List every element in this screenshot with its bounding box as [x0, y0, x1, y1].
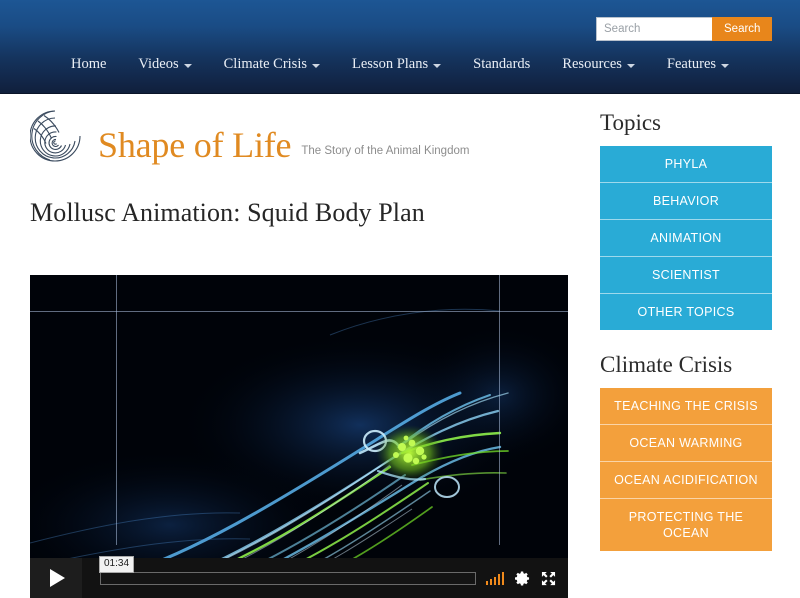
- sidebar: Topics PHYLABEHAVIORANIMATIONSCIENTISTOT…: [600, 110, 772, 573]
- chevron-down-icon: [312, 64, 320, 68]
- nav-item-label: Climate Crisis: [224, 56, 307, 73]
- page-title: Mollusc Animation: Squid Body Plan: [30, 198, 425, 228]
- time-tooltip: 01:34: [99, 556, 134, 573]
- sidebar-item-protecting-the-ocean[interactable]: PROTECTING THE OCEAN: [600, 499, 772, 551]
- climate-button-group: TEACHING THE CRISISOCEAN WARMINGOCEAN AC…: [600, 388, 772, 551]
- topics-heading: Topics: [600, 110, 772, 136]
- site-header: Search HomeVideosClimate CrisisLesson Pl…: [0, 0, 800, 94]
- sidebar-item-ocean-warming[interactable]: OCEAN WARMING: [600, 425, 772, 462]
- video-player[interactable]: 01:34: [30, 275, 568, 598]
- topics-button-group: PHYLABEHAVIORANIMATIONSCIENTISTOTHER TOP…: [600, 146, 772, 330]
- volume-bars-icon[interactable]: [486, 572, 505, 585]
- guide-line-vertical-right: [499, 275, 500, 545]
- brand-tagline: The Story of the Animal Kingdom: [301, 145, 469, 162]
- sidebar-item-phyla[interactable]: PHYLA: [600, 146, 772, 183]
- control-icons: [486, 571, 569, 586]
- page-body: Shape of Life The Story of the Animal Ki…: [0, 94, 800, 598]
- progress-bar[interactable]: [100, 572, 476, 585]
- main-navigation: HomeVideosClimate CrisisLesson PlansStan…: [0, 56, 800, 73]
- guide-line-vertical-left: [116, 275, 117, 545]
- nav-item-label: Standards: [473, 56, 530, 73]
- gear-icon[interactable]: [515, 571, 530, 586]
- brand-wordmark: Shape of Life: [98, 128, 291, 162]
- sidebar-item-behavior[interactable]: BEHAVIOR: [600, 183, 772, 220]
- search-area: Search: [596, 17, 772, 41]
- video-poster[interactable]: [30, 275, 568, 598]
- nav-item-standards[interactable]: Standards: [457, 56, 546, 73]
- nav-item-label: Videos: [138, 56, 178, 73]
- nav-item-label: Lesson Plans: [352, 56, 428, 73]
- nav-item-label: Home: [71, 56, 106, 73]
- guide-line-horizontal: [30, 311, 568, 312]
- progress-area[interactable]: 01:34: [82, 558, 486, 598]
- nav-item-features[interactable]: Features: [651, 56, 745, 73]
- sidebar-item-teaching-the-crisis[interactable]: TEACHING THE CRISIS: [600, 388, 772, 425]
- sidebar-item-other-topics[interactable]: OTHER TOPICS: [600, 294, 772, 330]
- chevron-down-icon: [433, 64, 441, 68]
- search-input[interactable]: [596, 17, 712, 41]
- play-icon: [50, 569, 65, 587]
- fullscreen-icon[interactable]: [541, 571, 556, 586]
- climate-heading: Climate Crisis: [600, 352, 772, 378]
- chevron-down-icon: [721, 64, 729, 68]
- nav-item-resources[interactable]: Resources: [546, 56, 651, 73]
- chevron-down-icon: [627, 64, 635, 68]
- play-button[interactable]: [30, 558, 82, 598]
- nav-item-climate-crisis[interactable]: Climate Crisis: [208, 56, 336, 73]
- sidebar-item-ocean-acidification[interactable]: OCEAN ACIDIFICATION: [600, 462, 772, 499]
- search-button[interactable]: Search: [712, 17, 772, 41]
- site-brand[interactable]: Shape of Life The Story of the Animal Ki…: [30, 110, 469, 162]
- sidebar-item-scientist[interactable]: SCIENTIST: [600, 257, 772, 294]
- nav-item-lesson-plans[interactable]: Lesson Plans: [336, 56, 457, 73]
- sidebar-item-animation[interactable]: ANIMATION: [600, 220, 772, 257]
- squid-animation-frame: [30, 275, 568, 598]
- chevron-down-icon: [184, 64, 192, 68]
- video-controls: 01:34: [30, 558, 568, 598]
- nav-item-home[interactable]: Home: [55, 56, 122, 73]
- nautilus-shell-icon: [30, 110, 88, 162]
- nav-item-videos[interactable]: Videos: [122, 56, 207, 73]
- nav-item-label: Features: [667, 56, 716, 73]
- nav-item-label: Resources: [562, 56, 622, 73]
